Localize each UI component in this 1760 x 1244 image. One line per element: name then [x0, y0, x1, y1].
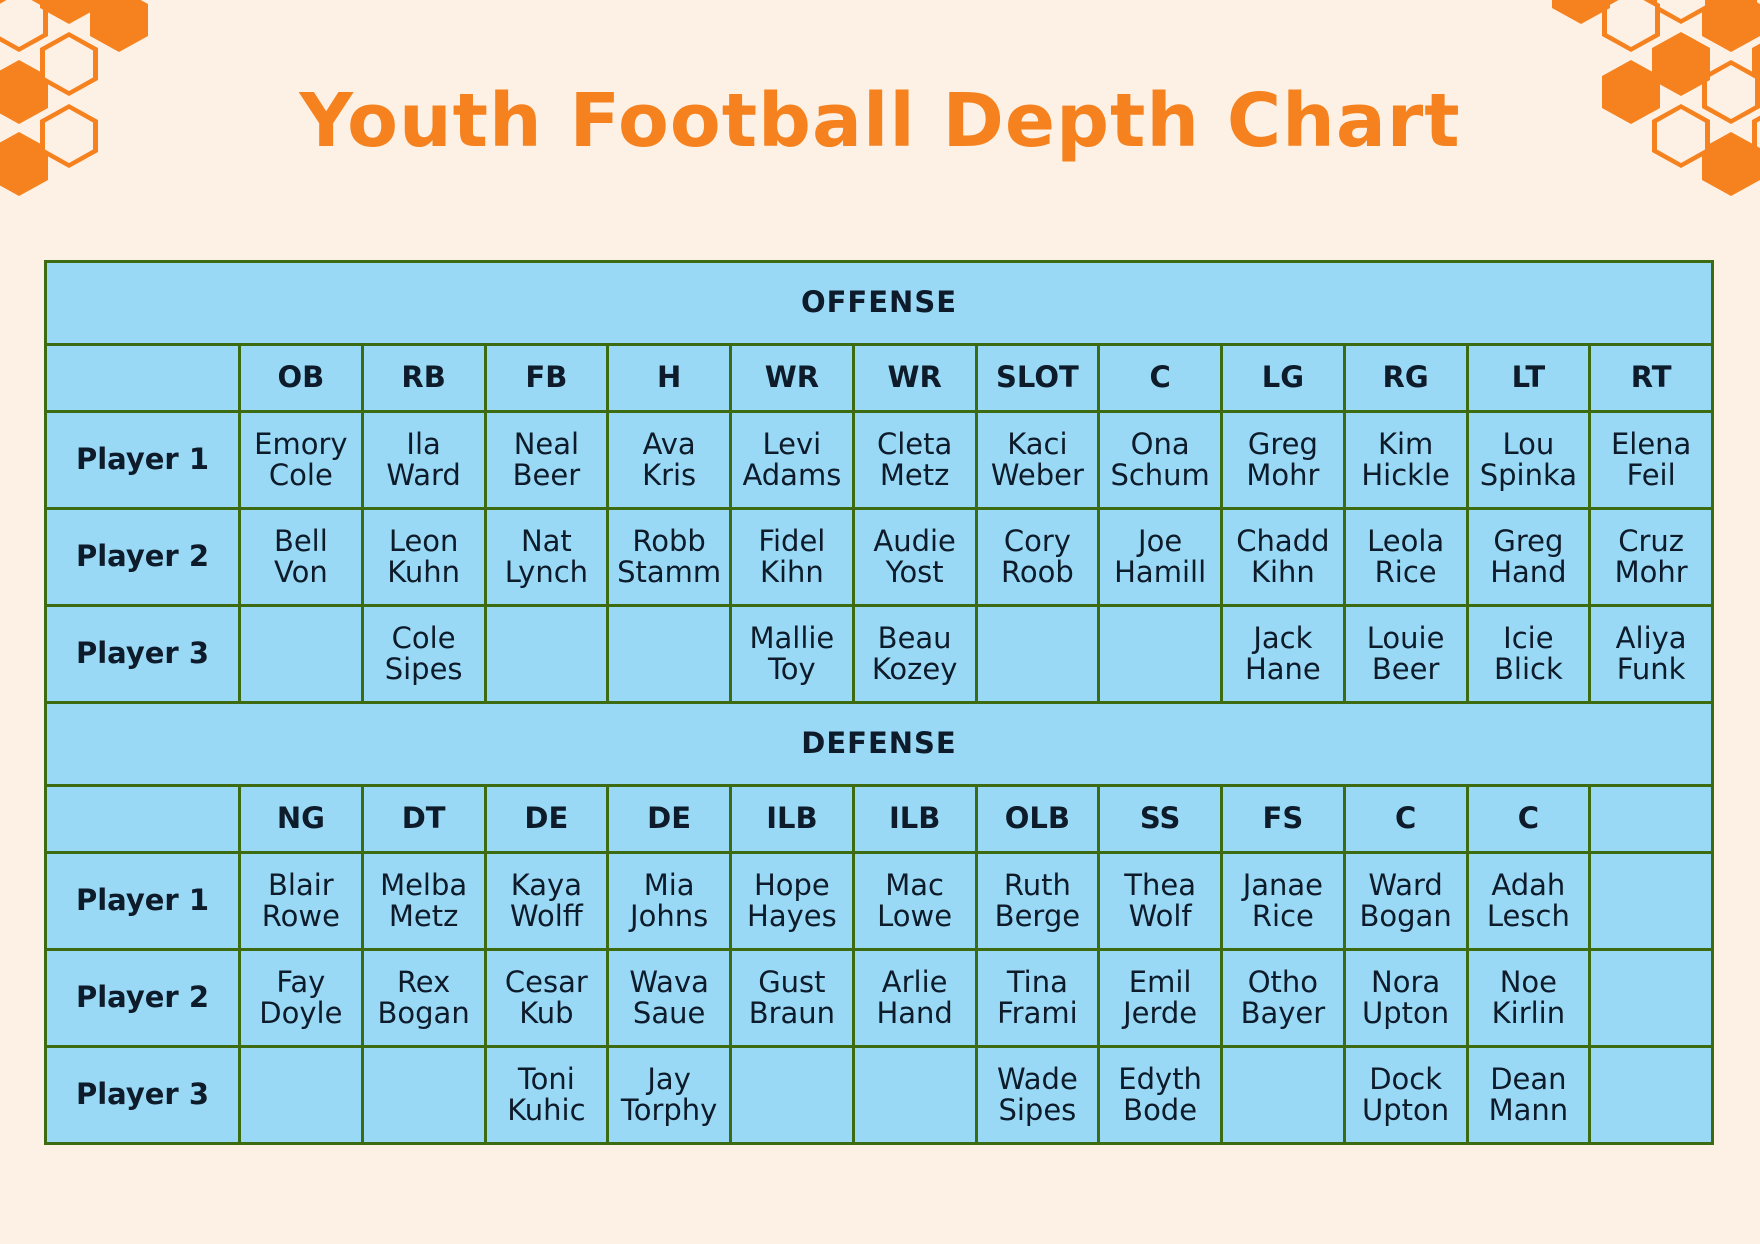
player-first-name: Mallie [734, 623, 850, 654]
player-first-name: Dean [1471, 1064, 1587, 1095]
player-cell[interactable]: WadeSipes [976, 1047, 1099, 1144]
player-cell[interactable]: KayaWolff [485, 853, 608, 950]
player-last-name: Beer [1348, 654, 1464, 685]
player-cell[interactable] [608, 606, 731, 703]
position-header-row: OBRBFBHWRWRSLOTCLGRGLTRT [46, 345, 1713, 412]
player-first-name: Melba [366, 870, 482, 901]
player-last-name: Hamill [1102, 557, 1218, 588]
player-cell[interactable]: OnaSchum [1099, 412, 1222, 509]
player-cell[interactable]: RuthBerge [976, 853, 1099, 950]
player-last-name: Mohr [1593, 557, 1709, 588]
player-first-name: Lou [1471, 429, 1587, 460]
player-first-name: Janae [1225, 870, 1341, 901]
player-first-name: Blair [243, 870, 359, 901]
player-cell[interactable] [731, 1047, 854, 1144]
player-last-name: Sipes [366, 654, 482, 685]
position-header-row: NGDTDEDEILBILBOLBSSFSCC [46, 786, 1713, 853]
position-header-olb-6: OLB [976, 786, 1099, 853]
position-header-ss-7: SS [1099, 786, 1222, 853]
position-header-c-10: C [1467, 786, 1590, 853]
player-last-name: Kihn [734, 557, 850, 588]
player-cell[interactable]: NealBeer [485, 412, 608, 509]
player-first-name: Beau [857, 623, 973, 654]
position-header-h-3: H [608, 345, 731, 412]
player-last-name: Lynch [489, 557, 605, 588]
table-row: Player 3ColeSipesMallieToyBeauKozeyJackH… [46, 606, 1713, 703]
player-first-name: Elena [1593, 429, 1709, 460]
row-label-player-1: Player 1 [46, 853, 240, 950]
player-first-name: Jack [1225, 623, 1341, 654]
player-first-name: Louie [1348, 623, 1464, 654]
player-first-name: Ward [1348, 870, 1464, 901]
player-first-name: Otho [1225, 967, 1341, 998]
player-first-name: Levi [734, 429, 850, 460]
player-cell[interactable] [240, 1047, 363, 1144]
player-cell[interactable]: MallieToy [731, 606, 854, 703]
player-last-name: Jerde [1102, 998, 1218, 1029]
player-cell[interactable]: BlairRowe [240, 853, 363, 950]
player-cell[interactable]: TheaWolf [1099, 853, 1222, 950]
player-cell[interactable]: KaciWeber [976, 412, 1099, 509]
player-last-name: Weber [980, 460, 1096, 491]
player-first-name: Emil [1102, 967, 1218, 998]
player-first-name: Thea [1102, 870, 1218, 901]
player-first-name: Icie [1471, 623, 1587, 654]
row-label-player-1: Player 1 [46, 412, 240, 509]
player-last-name: Kub [489, 998, 605, 1029]
player-last-name: Frami [980, 998, 1096, 1029]
player-first-name: Nat [489, 526, 605, 557]
player-cell[interactable]: GustBraun [731, 950, 854, 1047]
player-last-name: Bogan [1348, 901, 1464, 932]
player-cell[interactable]: LouieBeer [1344, 606, 1467, 703]
player-first-name: Leola [1348, 526, 1464, 557]
player-last-name: Schum [1102, 460, 1218, 491]
player-cell[interactable]: ColeSipes [362, 606, 485, 703]
player-cell[interactable]: HopeHayes [731, 853, 854, 950]
player-last-name: Hayes [734, 901, 850, 932]
player-first-name: Arlie [857, 967, 973, 998]
position-header-slot-6: SLOT [976, 345, 1099, 412]
player-last-name: Spinka [1471, 460, 1587, 491]
player-last-name: Upton [1348, 1095, 1464, 1126]
player-first-name: Chadd [1225, 526, 1341, 557]
player-cell[interactable]: GregMohr [1222, 412, 1345, 509]
player-first-name: Joe [1102, 526, 1218, 557]
player-first-name: Mia [611, 870, 727, 901]
player-cell[interactable]: IcieBlick [1467, 606, 1590, 703]
position-header-fs-8: FS [1222, 786, 1345, 853]
section-banner-row: DEFENSE [46, 703, 1713, 786]
player-last-name: Kozey [857, 654, 973, 685]
player-last-name: Rowe [243, 901, 359, 932]
player-first-name: Greg [1225, 429, 1341, 460]
player-cell[interactable]: WardBogan [1344, 853, 1467, 950]
player-last-name: Sipes [980, 1095, 1096, 1126]
player-first-name: Fidel [734, 526, 850, 557]
position-header-dt-1: DT [362, 786, 485, 853]
player-last-name: Rice [1348, 557, 1464, 588]
player-cell[interactable]: JoeHamill [1099, 509, 1222, 606]
player-cell[interactable]: ElenaFeil [1590, 412, 1713, 509]
player-last-name: Johns [611, 901, 727, 932]
player-first-name: Mac [857, 870, 973, 901]
player-cell[interactable]: NoraUpton [1344, 950, 1467, 1047]
player-first-name: Greg [1471, 526, 1587, 557]
player-last-name: Wolff [489, 901, 605, 932]
player-last-name: Funk [1593, 654, 1709, 685]
player-last-name: Von [243, 557, 359, 588]
row-label-player-3: Player 3 [46, 1047, 240, 1144]
table-row: Player 3ToniKuhicJayTorphyWadeSipesEdyth… [46, 1047, 1713, 1144]
player-cell[interactable]: AudieYost [853, 509, 976, 606]
section-banner-row: OFFENSE [46, 262, 1713, 345]
player-cell[interactable]: CletaMetz [853, 412, 976, 509]
position-header-c-9: C [1344, 786, 1467, 853]
player-first-name: Nora [1348, 967, 1464, 998]
row-label-player-3: Player 3 [46, 606, 240, 703]
position-header-rg-9: RG [1344, 345, 1467, 412]
player-cell[interactable]: OthoBayer [1222, 950, 1345, 1047]
player-cell[interactable]: LouSpinka [1467, 412, 1590, 509]
player-last-name: Kuhic [489, 1095, 605, 1126]
player-last-name: Hickle [1348, 460, 1464, 491]
player-cell[interactable]: MiaJohns [608, 853, 731, 950]
position-header-wr-4: WR [731, 345, 854, 412]
player-first-name: Edyth [1102, 1064, 1218, 1095]
player-last-name: Rice [1225, 901, 1341, 932]
player-last-name: Doyle [243, 998, 359, 1029]
player-cell[interactable] [976, 606, 1099, 703]
player-last-name: Wolf [1102, 901, 1218, 932]
player-first-name: Cleta [857, 429, 973, 460]
row-label-player-2: Player 2 [46, 950, 240, 1047]
player-last-name: Torphy [611, 1095, 727, 1126]
player-cell[interactable]: MacLowe [853, 853, 976, 950]
position-header-rt-11: RT [1590, 345, 1713, 412]
table-row: Player 2BellVonLeonKuhnNatLynchRobbStamm… [46, 509, 1713, 606]
player-last-name: Kirlin [1471, 998, 1587, 1029]
player-first-name: Toni [489, 1064, 605, 1095]
player-cell[interactable]: DockUpton [1344, 1047, 1467, 1144]
player-cell[interactable]: CruzMohr [1590, 509, 1713, 606]
corner-cell [46, 786, 240, 853]
player-last-name: Ward [366, 460, 482, 491]
player-last-name: Hand [857, 998, 973, 1029]
player-cell[interactable]: DeanMann [1467, 1047, 1590, 1144]
player-cell[interactable]: LeolaRice [1344, 509, 1467, 606]
position-header-c-7: C [1099, 345, 1222, 412]
player-last-name: Metz [366, 901, 482, 932]
player-cell[interactable] [240, 606, 363, 703]
player-cell[interactable] [1590, 1047, 1713, 1144]
player-cell[interactable]: RexBogan [362, 950, 485, 1047]
player-last-name: Bode [1102, 1095, 1218, 1126]
player-last-name: Cole [243, 460, 359, 491]
position-header-ob-0: OB [240, 345, 363, 412]
player-last-name: Kihn [1225, 557, 1341, 588]
player-last-name: Upton [1348, 998, 1464, 1029]
player-last-name: Toy [734, 654, 850, 685]
player-first-name: Cruz [1593, 526, 1709, 557]
player-last-name: Berge [980, 901, 1096, 932]
table-row: Player 1EmoryColeIlaWardNealBeerAvaKrisL… [46, 412, 1713, 509]
player-cell[interactable]: LeonKuhn [362, 509, 485, 606]
depth-chart-container: OFFENSEOBRBFBHWRWRSLOTCLGRGLTRTPlayer 1E… [44, 260, 1714, 1145]
player-cell[interactable]: AvaKris [608, 412, 731, 509]
player-cell[interactable] [853, 1047, 976, 1144]
depth-chart-table: OFFENSEOBRBFBHWRWRSLOTCLGRGLTRTPlayer 1E… [44, 260, 1714, 1145]
player-cell[interactable]: GregHand [1467, 509, 1590, 606]
player-cell[interactable]: NatLynch [485, 509, 608, 606]
player-last-name: Hane [1225, 654, 1341, 685]
player-cell[interactable]: AdahLesch [1467, 853, 1590, 950]
player-first-name: Cory [980, 526, 1096, 557]
player-first-name: Kaci [980, 429, 1096, 460]
player-cell[interactable]: EmoryCole [240, 412, 363, 509]
corner-cell [46, 345, 240, 412]
player-last-name: Hand [1471, 557, 1587, 588]
section-title-defense: DEFENSE [46, 703, 1713, 786]
player-cell[interactable]: AliyaFunk [1590, 606, 1713, 703]
player-first-name: Ruth [980, 870, 1096, 901]
position-header-wr-5: WR [853, 345, 976, 412]
player-last-name: Mohr [1225, 460, 1341, 491]
position-header-blank-11 [1590, 786, 1713, 853]
player-first-name: Cesar [489, 967, 605, 998]
player-cell[interactable]: EdythBode [1099, 1047, 1222, 1144]
player-first-name: Ona [1102, 429, 1218, 460]
player-first-name: Ava [611, 429, 727, 460]
player-first-name: Kaya [489, 870, 605, 901]
player-last-name: Blick [1471, 654, 1587, 685]
player-cell[interactable]: MelbaMetz [362, 853, 485, 950]
row-label-player-2: Player 2 [46, 509, 240, 606]
player-cell[interactable] [485, 606, 608, 703]
player-first-name: Robb [611, 526, 727, 557]
player-cell[interactable] [1590, 950, 1713, 1047]
player-cell[interactable]: JayTorphy [608, 1047, 731, 1144]
position-header-fb-2: FB [485, 345, 608, 412]
player-first-name: Adah [1471, 870, 1587, 901]
player-cell[interactable]: NoeKirlin [1467, 950, 1590, 1047]
player-cell[interactable]: LeviAdams [731, 412, 854, 509]
player-first-name: Gust [734, 967, 850, 998]
player-last-name: Braun [734, 998, 850, 1029]
player-first-name: Bell [243, 526, 359, 557]
player-cell[interactable]: FayDoyle [240, 950, 363, 1047]
player-cell[interactable]: TinaFrami [976, 950, 1099, 1047]
depth-chart-body: OFFENSEOBRBFBHWRWRSLOTCLGRGLTRTPlayer 1E… [46, 262, 1713, 1144]
player-last-name: Lesch [1471, 901, 1587, 932]
position-header-ng-0: NG [240, 786, 363, 853]
table-row: Player 1BlairRoweMelbaMetzKayaWolffMiaJo… [46, 853, 1713, 950]
player-first-name: Noe [1471, 967, 1587, 998]
player-cell[interactable] [1222, 1047, 1345, 1144]
player-first-name: Audie [857, 526, 973, 557]
position-header-lg-8: LG [1222, 345, 1345, 412]
player-first-name: Rex [366, 967, 482, 998]
section-title-offense: OFFENSE [46, 262, 1713, 345]
position-header-de-2: DE [485, 786, 608, 853]
player-cell[interactable]: ToniKuhic [485, 1047, 608, 1144]
player-cell[interactable]: FidelKihn [731, 509, 854, 606]
player-cell[interactable]: IlaWard [362, 412, 485, 509]
player-first-name: Ila [366, 429, 482, 460]
player-cell[interactable] [1590, 853, 1713, 950]
player-cell[interactable]: JanaeRice [1222, 853, 1345, 950]
position-header-ilb-5: ILB [853, 786, 976, 853]
player-cell[interactable]: BellVon [240, 509, 363, 606]
position-header-lt-10: LT [1467, 345, 1590, 412]
player-last-name: Mann [1471, 1095, 1587, 1126]
position-header-rb-1: RB [362, 345, 485, 412]
player-last-name: Bayer [1225, 998, 1341, 1029]
player-last-name: Roob [980, 557, 1096, 588]
player-first-name: Fay [243, 967, 359, 998]
player-cell[interactable]: WavaSaue [608, 950, 731, 1047]
player-first-name: Wava [611, 967, 727, 998]
player-first-name: Jay [611, 1064, 727, 1095]
position-header-de-3: DE [608, 786, 731, 853]
player-cell[interactable]: KimHickle [1344, 412, 1467, 509]
player-last-name: Yost [857, 557, 973, 588]
player-cell[interactable]: RobbStamm [608, 509, 731, 606]
player-last-name: Saue [611, 998, 727, 1029]
player-last-name: Adams [734, 460, 850, 491]
player-last-name: Lowe [857, 901, 973, 932]
player-last-name: Beer [489, 460, 605, 491]
player-cell[interactable]: CesarKub [485, 950, 608, 1047]
player-cell[interactable]: JackHane [1222, 606, 1345, 703]
player-first-name: Tina [980, 967, 1096, 998]
player-cell[interactable] [362, 1047, 485, 1144]
player-cell[interactable] [1099, 606, 1222, 703]
player-first-name: Cole [366, 623, 482, 654]
player-first-name: Leon [366, 526, 482, 557]
player-first-name: Dock [1348, 1064, 1464, 1095]
player-first-name: Wade [980, 1064, 1096, 1095]
position-header-ilb-4: ILB [731, 786, 854, 853]
player-last-name: Kuhn [366, 557, 482, 588]
player-first-name: Neal [489, 429, 605, 460]
player-last-name: Feil [1593, 460, 1709, 491]
player-cell[interactable]: ChaddKihn [1222, 509, 1345, 606]
player-last-name: Kris [611, 460, 727, 491]
page-title: Youth Football Depth Chart [0, 78, 1760, 164]
player-first-name: Aliya [1593, 623, 1709, 654]
player-cell[interactable]: ArlieHand [853, 950, 976, 1047]
table-row: Player 2FayDoyleRexBoganCesarKubWavaSaue… [46, 950, 1713, 1047]
player-cell[interactable]: EmilJerde [1099, 950, 1222, 1047]
player-first-name: Emory [243, 429, 359, 460]
player-first-name: Kim [1348, 429, 1464, 460]
player-cell[interactable]: BeauKozey [853, 606, 976, 703]
player-last-name: Stamm [611, 557, 727, 588]
player-first-name: Hope [734, 870, 850, 901]
player-last-name: Bogan [366, 998, 482, 1029]
player-cell[interactable]: CoryRoob [976, 509, 1099, 606]
player-last-name: Metz [857, 460, 973, 491]
